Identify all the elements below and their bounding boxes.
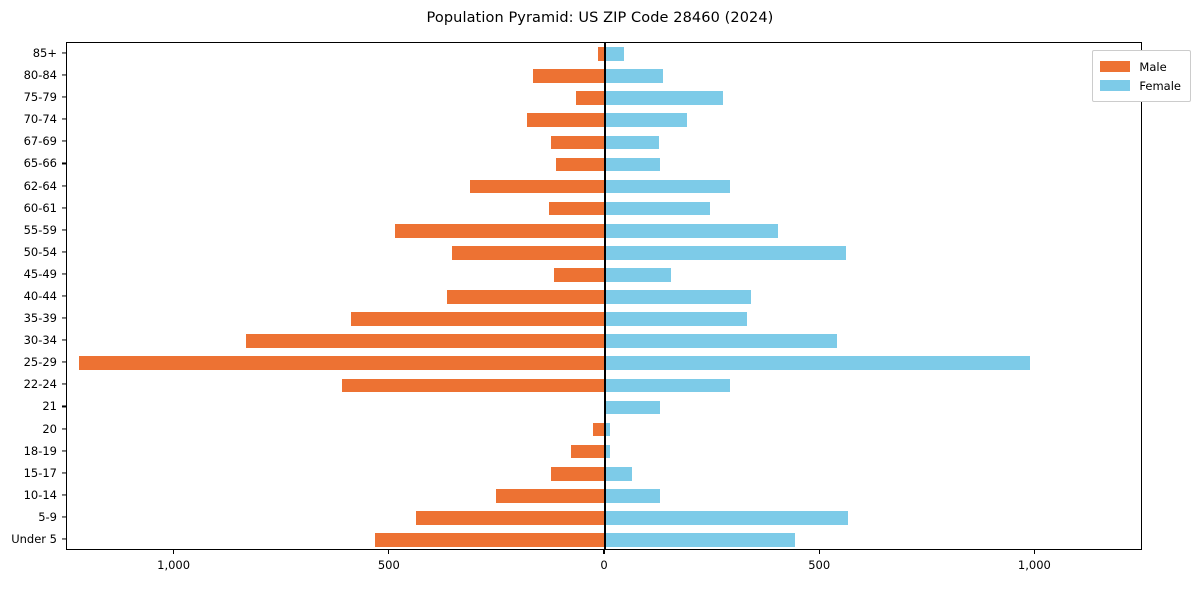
y-tick-label: 30-34 <box>24 333 57 347</box>
y-tick-label: 5-9 <box>38 510 57 524</box>
bar-female <box>605 423 610 437</box>
y-tick-label: Under 5 <box>11 532 57 546</box>
chart-legend: MaleFemale <box>1092 50 1191 102</box>
bar-female <box>605 489 660 503</box>
bar-male <box>395 224 605 238</box>
x-tick-label: 1,000 <box>1018 558 1051 572</box>
bar-male <box>551 467 605 481</box>
x-tick-label: 500 <box>808 558 830 572</box>
y-tick-label: 45-49 <box>24 267 57 281</box>
bar-male <box>447 290 605 304</box>
bar-male <box>416 511 605 525</box>
legend-label-female: Female <box>1139 79 1181 93</box>
x-tick-label: 500 <box>378 558 400 572</box>
legend-label-male: Male <box>1139 60 1166 74</box>
bar-female <box>605 401 660 415</box>
bar-female <box>605 91 723 105</box>
y-tick-label: 21 <box>42 399 57 413</box>
bar-male <box>554 268 605 282</box>
y-tick-label: 35-39 <box>24 311 57 325</box>
bar-male <box>496 489 605 503</box>
bar-female <box>605 334 837 348</box>
bar-male <box>571 445 605 459</box>
legend-item-male[interactable]: Male <box>1100 57 1181 76</box>
bar-male <box>342 379 605 393</box>
legend-item-female[interactable]: Female <box>1100 76 1181 95</box>
y-tick-label: 10-14 <box>24 488 57 502</box>
y-tick-label: 25-29 <box>24 355 57 369</box>
bar-male <box>593 423 605 437</box>
y-axis: 85+80-8475-7970-7467-6965-6662-6460-6155… <box>0 42 66 550</box>
x-tick-mark <box>1034 550 1035 554</box>
y-tick-label: 70-74 <box>24 112 57 126</box>
bar-female <box>605 69 663 83</box>
x-axis: 1,00050005001,000 <box>66 550 1142 596</box>
bar-male <box>470 180 605 194</box>
bar-female <box>605 356 1030 370</box>
y-tick-label: 62-64 <box>24 179 57 193</box>
bar-female <box>605 312 747 326</box>
bar-male <box>551 136 605 150</box>
plot-area <box>66 42 1142 550</box>
bar-female <box>605 268 671 282</box>
bar-female <box>605 290 751 304</box>
legend-swatch-male <box>1100 61 1130 72</box>
chart-title: Population Pyramid: US ZIP Code 28460 (2… <box>0 10 1200 26</box>
y-tick-label: 20 <box>42 422 57 436</box>
y-tick-label: 67-69 <box>24 134 57 148</box>
bar-male <box>79 356 605 370</box>
population-pyramid-figure: Population Pyramid: US ZIP Code 28460 (2… <box>0 0 1200 600</box>
bar-female <box>605 467 632 481</box>
x-tick-mark <box>173 550 174 554</box>
y-tick-label: 85+ <box>33 46 57 60</box>
bar-male <box>246 334 605 348</box>
bar-female <box>605 533 795 547</box>
y-tick-label: 75-79 <box>24 90 57 104</box>
y-tick-label: 15-17 <box>24 466 57 480</box>
bar-female <box>605 113 687 127</box>
bar-male <box>576 91 605 105</box>
x-tick-label: 1,000 <box>157 558 190 572</box>
bar-female <box>605 158 660 172</box>
x-tick-mark <box>819 550 820 554</box>
bar-male <box>549 202 605 216</box>
y-tick-label: 50-54 <box>24 245 57 259</box>
bar-male <box>556 158 605 172</box>
y-tick-label: 60-61 <box>24 201 57 215</box>
x-tick-mark <box>388 550 389 554</box>
y-tick-label: 22-24 <box>24 377 57 391</box>
y-tick-label: 55-59 <box>24 223 57 237</box>
bar-male <box>533 69 605 83</box>
bar-female <box>605 224 778 238</box>
y-tick-label: 40-44 <box>24 289 57 303</box>
bar-female <box>605 511 848 525</box>
legend-swatch-female <box>1100 80 1130 91</box>
bar-male <box>527 113 605 127</box>
bar-female <box>605 180 730 194</box>
bar-female <box>605 445 610 459</box>
y-tick-label: 65-66 <box>24 156 57 170</box>
bar-female <box>605 379 730 393</box>
bar-female <box>605 47 624 61</box>
x-tick-mark <box>603 550 604 554</box>
y-tick-label: 80-84 <box>24 68 57 82</box>
zero-axis-line <box>604 43 605 549</box>
bar-male <box>375 533 605 547</box>
bar-male <box>452 246 605 260</box>
bar-female <box>605 202 710 216</box>
bar-female <box>605 136 659 150</box>
bar-male <box>351 312 605 326</box>
bar-female <box>605 246 846 260</box>
x-tick-label: 0 <box>600 558 607 572</box>
y-tick-label: 18-19 <box>24 444 57 458</box>
